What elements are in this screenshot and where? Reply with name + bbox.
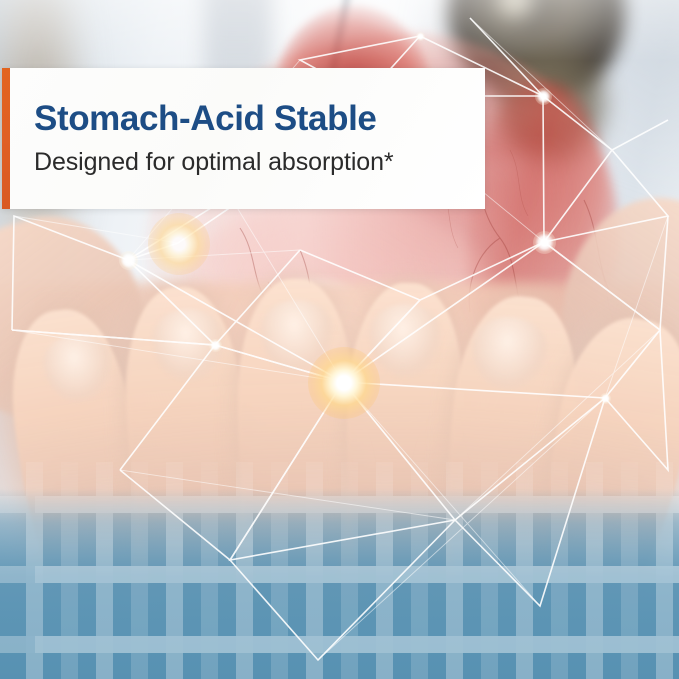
network-node-left-flare — [148, 213, 210, 275]
top-sheen — [0, 0, 679, 61]
network-node-mid-right — [533, 231, 556, 254]
network-node-center-core — [308, 347, 380, 419]
network-node-center-left — [209, 339, 222, 352]
page-title: Stomach-Acid Stable — [34, 101, 467, 137]
product-banner: Stomach-Acid Stable Designed for optimal… — [0, 0, 679, 679]
medical-cross-pattern-offset — [35, 462, 679, 679]
page-subtitle: Designed for optimal absorption* — [34, 148, 467, 176]
network-node-mid-left — [119, 251, 138, 270]
network-node-upper-right — [535, 88, 552, 105]
headline-card: Stomach-Acid Stable Designed for optimal… — [2, 68, 485, 209]
headline-card-content: Stomach-Acid Stable Designed for optimal… — [34, 68, 467, 209]
orange-accent-bar — [2, 68, 10, 209]
network-node-lower-right — [600, 393, 611, 404]
